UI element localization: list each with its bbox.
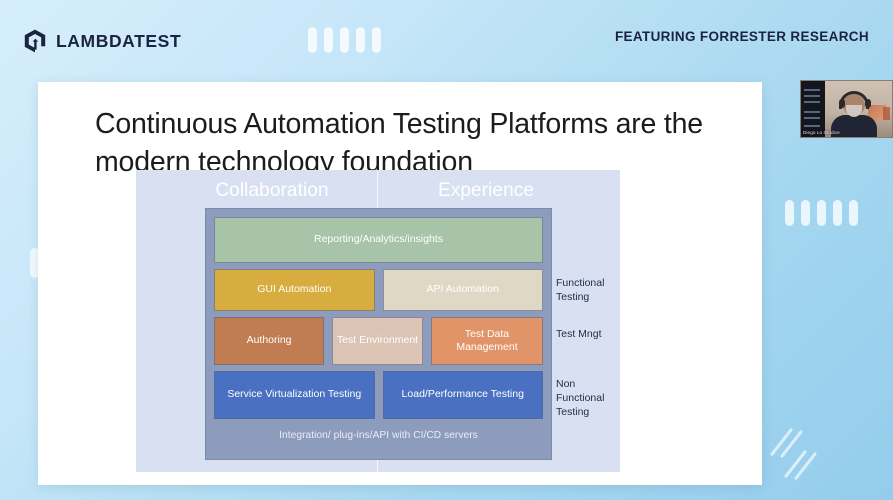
brand-logo: LAMBDATEST <box>22 28 181 54</box>
diagram-integration-footer: Integration/ plug-ins/API with CI/CD ser… <box>214 423 543 447</box>
lambdatest-hexagon-arrow-icon <box>22 28 48 54</box>
headphone-earcup-right <box>865 99 871 108</box>
headphone-earcup-left <box>839 99 845 108</box>
box-authoring[interactable]: Authoring <box>214 317 324 365</box>
decorative-pills-right <box>785 200 858 226</box>
side-label-test-mngt: Test Mngt <box>556 328 616 342</box>
decorative-pill <box>833 200 842 226</box>
diagram-row-reporting: Reporting/Analytics/insights <box>214 217 543 263</box>
decorative-pill <box>372 27 381 53</box>
box-test-data-management[interactable]: Test Data Management <box>431 317 543 365</box>
diagram-row-test-management: Authoring Test Environment Test Data Man… <box>214 317 543 365</box>
side-label-non-functional-testing: Non Functional Testing <box>556 378 616 420</box>
decorative-pill <box>340 27 349 53</box>
decorative-pill <box>785 200 794 226</box>
quadrant-heading-collaboration: Collaboration <box>172 180 372 202</box>
decorative-pill <box>308 27 317 53</box>
webcam-participant-name: Diego Lo Giudice <box>803 130 840 135</box>
brand-wordmark: LAMBDATEST <box>56 31 181 52</box>
box-reporting-analytics-insights[interactable]: Reporting/Analytics/insights <box>214 217 543 263</box>
diagram-inner-frame: Reporting/Analytics/insights GUI Automat… <box>205 208 552 460</box>
decorative-pill <box>801 200 810 226</box>
platform-architecture-diagram: Collaboration Experience Reporting/Analy… <box>136 170 620 472</box>
webcam-wall-art-secondary <box>883 107 890 120</box>
side-label-functional-testing: Functional Testing <box>556 277 616 305</box>
decorative-pill <box>324 27 333 53</box>
decorative-slashes-icon <box>768 425 838 483</box>
presentation-viewport: LAMBDATEST FEATURING FORRESTER RESEARCH … <box>0 0 893 500</box>
box-test-environment[interactable]: Test Environment <box>332 317 423 365</box>
box-api-automation[interactable]: API Automation <box>383 269 544 311</box>
decorative-pills-header <box>308 27 381 53</box>
webcam-tile[interactable]: Diego Lo Giudice <box>800 80 893 138</box>
decorative-pill <box>817 200 826 226</box>
box-gui-automation[interactable]: GUI Automation <box>214 269 375 311</box>
box-load-performance-testing[interactable]: Load/Performance Testing <box>383 371 544 419</box>
diagram-row-non-functional: Service Virtualization Testing Load/Perf… <box>214 371 543 419</box>
box-service-virtualization-testing[interactable]: Service Virtualization Testing <box>214 371 375 419</box>
decorative-pill <box>849 200 858 226</box>
webcam-side-panel <box>801 81 825 137</box>
slide-card: Continuous Automation Testing Platforms … <box>38 82 762 485</box>
featuring-label: FEATURING FORRESTER RESEARCH <box>615 29 869 44</box>
quadrant-heading-experience: Experience <box>386 180 586 202</box>
decorative-pill <box>356 27 365 53</box>
diagram-row-automation: GUI Automation API Automation <box>214 269 543 311</box>
